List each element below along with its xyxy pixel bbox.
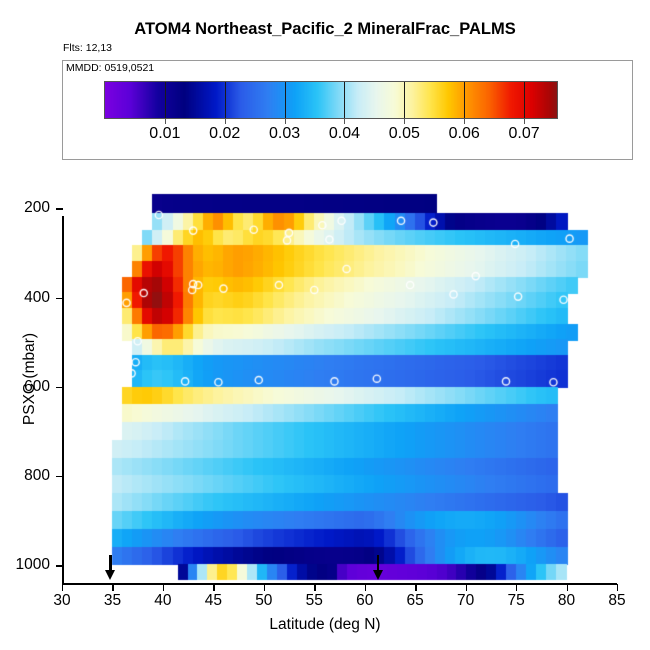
x-axis-tick (567, 584, 568, 591)
x-axis-tick-label: 45 (205, 592, 222, 610)
y-axis-label: PSXC (mbar) (21, 269, 39, 489)
x-axis-line (62, 583, 617, 585)
x-axis-tick (112, 584, 113, 591)
x-axis-tick-label: 80 (558, 592, 575, 610)
profile-marker-1 (103, 555, 117, 581)
heatmap-canvas (62, 186, 617, 583)
y-axis-tick-label: 200 (24, 199, 50, 217)
x-axis-tick-label: 30 (53, 592, 70, 610)
colorbar-gradient (105, 82, 557, 118)
x-axis-tick-label: 35 (104, 592, 121, 610)
x-axis-tick-label: 85 (608, 592, 625, 610)
x-axis-tick (466, 584, 467, 591)
plot-window: ATOM4 Northeast_Pacific_2 MineralFrac_PA… (0, 0, 650, 650)
x-axis-tick-label: 65 (407, 592, 424, 610)
y-axis-line (62, 216, 64, 583)
x-axis-tick (314, 584, 315, 591)
flights-label: Flts: 12,13 (63, 42, 112, 54)
x-axis-tick-label: 75 (507, 592, 524, 610)
x-axis-tick (264, 584, 265, 591)
x-axis-tick (365, 584, 366, 591)
x-axis-tick-label: 60 (356, 592, 373, 610)
x-axis-label: Latitude (deg N) (0, 616, 650, 634)
x-axis-tick (516, 584, 517, 591)
x-axis-tick-label: 40 (154, 592, 171, 610)
page-title: ATOM4 Northeast_Pacific_2 MineralFrac_PA… (0, 20, 650, 39)
x-axis-tick (415, 584, 416, 591)
x-axis-tick (617, 584, 618, 591)
mmdd-label: MMDD: 0519,0521 (66, 62, 154, 74)
x-axis-tick-label: 50 (255, 592, 272, 610)
x-axis-tick (163, 584, 164, 591)
x-axis-tick (213, 584, 214, 591)
y-axis-tick (56, 387, 63, 388)
x-axis-tick (62, 584, 63, 591)
y-axis-tick (56, 565, 63, 566)
y-axis-tick-label: 1000 (16, 556, 50, 574)
y-axis-tick (56, 298, 63, 299)
profile-marker-2 (371, 555, 385, 581)
y-axis-tick (56, 208, 63, 209)
x-axis-tick-label: 55 (306, 592, 323, 610)
y-axis-tick (56, 476, 63, 477)
x-axis-tick-label: 70 (457, 592, 474, 610)
